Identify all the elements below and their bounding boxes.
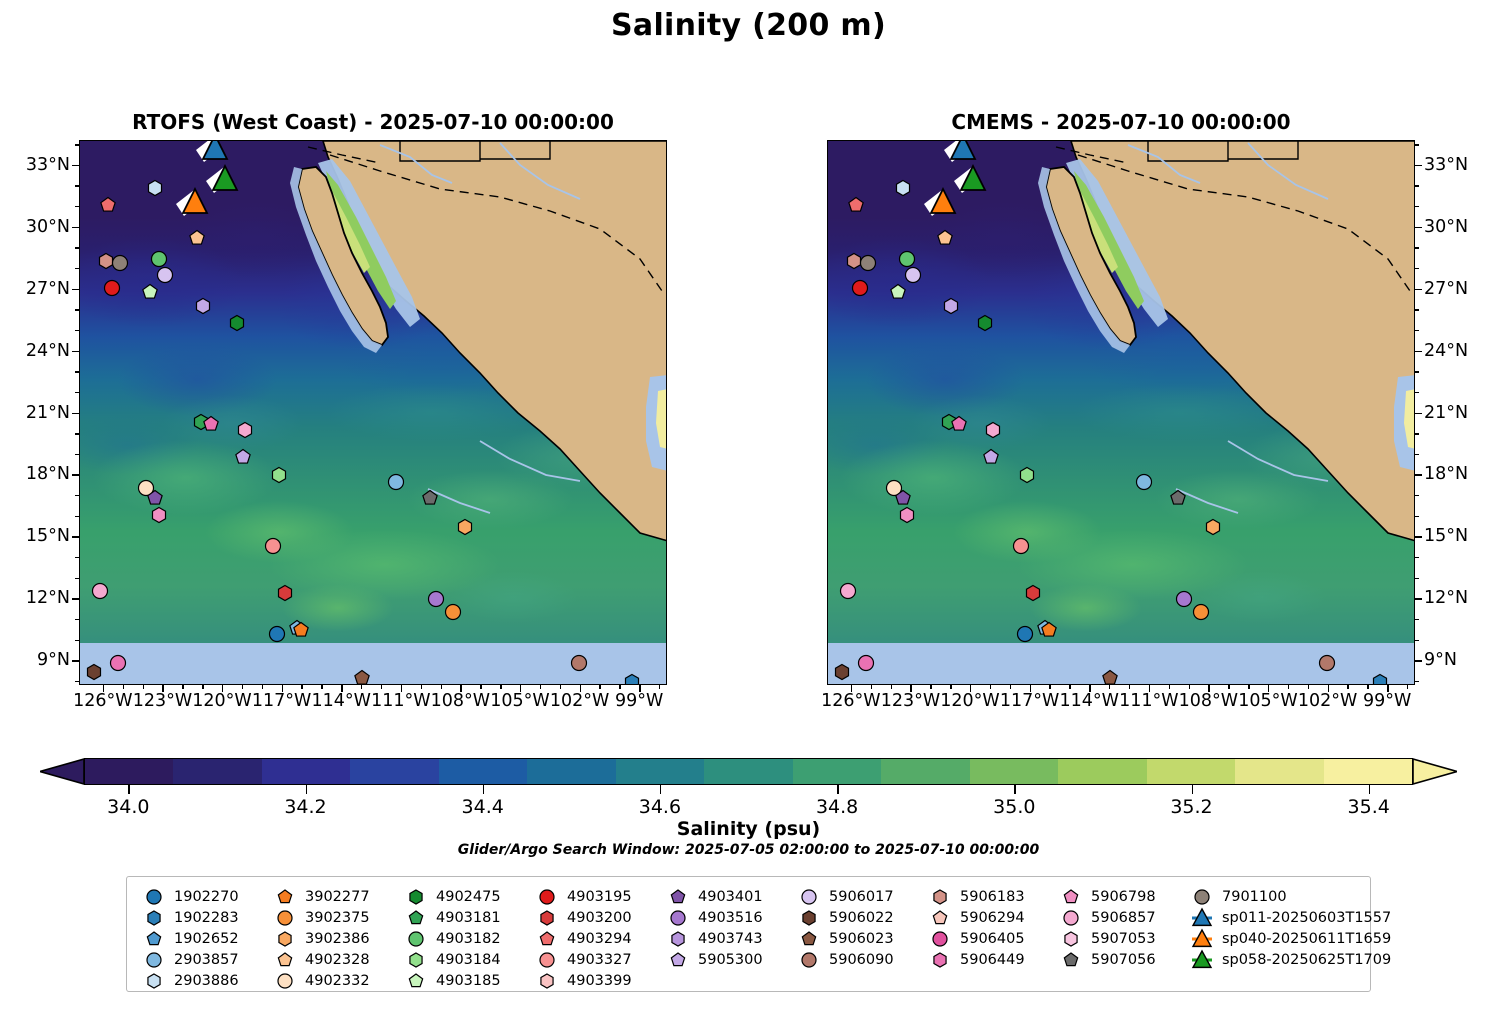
x-tick-label: 111°W	[371, 691, 430, 711]
land-mask-cmems	[828, 141, 1414, 684]
legend-item[interactable]: 7901100	[1187, 886, 1377, 907]
legend-item[interactable]: 5906798	[1056, 886, 1187, 907]
colorbar-segment	[970, 759, 1058, 784]
legend-item[interactable]: 5906183	[925, 886, 1056, 907]
x-tick-minor	[1288, 685, 1289, 689]
y-tick-minor	[75, 578, 79, 579]
y-tick-label: 21°N	[1424, 403, 1468, 423]
legend-label: 5906405	[955, 931, 1025, 947]
y-tick	[1415, 289, 1422, 290]
argo-float-marker[interactable]	[1168, 489, 1187, 508]
argo-float-marker[interactable]	[888, 282, 907, 301]
legend-label: 5906017	[824, 889, 894, 905]
legend-label: 1902270	[169, 889, 239, 905]
argo-float-marker[interactable]	[1174, 590, 1193, 609]
argo-float-marker[interactable]	[444, 602, 463, 621]
legend-item[interactable]: 5906449	[925, 949, 1056, 970]
legend-item[interactable]: 4903399	[532, 970, 663, 991]
argo-float-marker[interactable]	[110, 253, 129, 272]
legend-item[interactable]: 5906090	[794, 949, 925, 970]
y-tick-minor	[1415, 557, 1419, 558]
legend-label: 4903401	[693, 889, 763, 905]
legend-item[interactable]: 4903327	[532, 949, 663, 970]
legend-label: sp011-20250603T1557	[1217, 910, 1391, 926]
y-tick-minor	[75, 206, 79, 207]
legend-item[interactable]: 5906023	[794, 928, 925, 949]
float-legend-icon	[270, 930, 300, 948]
legend-label: 7901100	[1217, 889, 1287, 905]
y-tick	[72, 474, 79, 475]
argo-float-marker[interactable]	[150, 505, 169, 524]
argo-float-marker[interactable]	[98, 195, 117, 214]
colorbar-segment	[881, 759, 969, 784]
x-tick-minor	[1367, 685, 1368, 689]
colorbar-tick	[837, 785, 839, 794]
legend-column: 4903401490351649037435905300	[663, 886, 794, 991]
argo-float-marker[interactable]	[850, 278, 869, 297]
y-tick-label: 15°N	[26, 526, 70, 546]
y-tick-minor	[1415, 433, 1419, 434]
argo-float-marker[interactable]	[623, 672, 642, 685]
panel-rtofs-title: RTOFS (West Coast) - 2025-07-10 00:00:00	[79, 110, 667, 134]
float-legend-icon	[1056, 888, 1086, 906]
y-tick	[1415, 227, 1422, 228]
legend-item[interactable]: 4903195	[532, 886, 663, 907]
float-legend-icon	[270, 951, 300, 969]
colorbar-tick-label: 35.2	[1170, 796, 1212, 818]
legend-item-empty	[925, 970, 1056, 991]
figure-title: Salinity (200 m)	[0, 8, 1497, 43]
float-legend-icon	[270, 888, 300, 906]
legend-label: 1902652	[169, 931, 239, 947]
argo-float-marker[interactable]	[90, 582, 109, 601]
float-legend-icon	[139, 972, 169, 990]
argo-float-marker[interactable]	[1023, 584, 1042, 603]
argo-float-marker[interactable]	[856, 654, 875, 673]
x-tick-minor	[1407, 685, 1408, 689]
float-legend-icon	[401, 888, 431, 906]
legend-item[interactable]: 5906405	[925, 928, 1056, 949]
x-tick-minor	[321, 685, 322, 689]
argo-float-marker[interactable]	[1101, 668, 1120, 685]
legend-item[interactable]: 4903182	[401, 928, 532, 949]
colorbar-tick-label: 34.6	[639, 796, 681, 818]
argo-float-marker[interactable]	[146, 179, 165, 198]
x-tick-minor	[619, 685, 620, 689]
argo-float-marker[interactable]	[846, 195, 865, 214]
y-tick	[72, 289, 79, 290]
legend-item[interactable]: 5907053	[1056, 928, 1187, 949]
argo-float-marker[interactable]	[233, 447, 252, 466]
argo-float-marker[interactable]	[227, 313, 246, 332]
legend-column: 7901100sp011-20250603T1557sp040-20250611…	[1187, 886, 1377, 991]
legend-column: 19022701902283190265229038572903886	[139, 886, 270, 991]
float-legend-icon	[663, 888, 693, 906]
x-tick-minor	[123, 685, 124, 689]
legend-item[interactable]: 2903857	[139, 949, 270, 970]
float-legend-icon	[663, 951, 693, 969]
land-mask-rtofs	[80, 141, 666, 684]
legend-column: 49031954903200490329449033274903399	[532, 886, 663, 991]
y-tick-label: 21°N	[26, 403, 70, 423]
float-legend-icon	[663, 909, 693, 927]
legend-label: 4902332	[300, 973, 370, 989]
legend-item[interactable]: 5906022	[794, 907, 925, 928]
argo-float-marker[interactable]	[858, 253, 877, 272]
x-tick-minor	[1049, 685, 1050, 689]
y-tick-label: 9°N	[1424, 650, 1457, 670]
legend-label: sp058-20250625T1709	[1217, 952, 1391, 968]
float-legend-icon	[270, 909, 300, 927]
y-tick-label: 18°N	[1424, 464, 1468, 484]
y-tick-label: 33°N	[26, 155, 70, 175]
argo-float-marker[interactable]	[832, 662, 851, 681]
legend-label: 3902277	[300, 889, 370, 905]
float-legend-icon	[663, 930, 693, 948]
x-tick-minor	[242, 685, 243, 689]
x-tick-minor	[950, 685, 951, 689]
argo-float-marker[interactable]	[898, 505, 917, 524]
legend-item[interactable]: 2903886	[139, 970, 270, 991]
argo-float-marker[interactable]	[108, 654, 127, 673]
legend-item[interactable]: sp011-20250603T1557	[1187, 907, 1377, 928]
colorbar-segment	[1324, 759, 1412, 784]
legend-label: 3902375	[300, 910, 370, 926]
argo-float-marker[interactable]	[263, 536, 282, 555]
float-legend-icon	[532, 951, 562, 969]
argo-float-marker[interactable]	[936, 229, 955, 248]
legend-item[interactable]: 5905300	[663, 949, 794, 970]
argo-float-marker[interactable]	[981, 447, 1000, 466]
argo-float-marker[interactable]	[1015, 625, 1034, 644]
y-tick-minor	[75, 640, 79, 641]
panel-rtofs: RTOFS (West Coast) - 2025-07-10 00:00:00…	[79, 140, 667, 685]
legend-label: 4903181	[431, 910, 501, 926]
float-legend-icon	[794, 951, 824, 969]
argo-float-marker[interactable]	[1017, 466, 1036, 485]
float-legend-icon	[794, 909, 824, 927]
legend-item[interactable]: 1902270	[139, 886, 270, 907]
x-tick-label: 126°W	[73, 691, 132, 711]
argo-float-marker[interactable]	[353, 668, 372, 685]
argo-float-marker[interactable]	[569, 654, 588, 673]
x-tick-minor	[659, 685, 660, 689]
legend-item[interactable]: 5906857	[1056, 907, 1187, 928]
colorbar-segment	[704, 759, 792, 784]
argo-float-marker[interactable]	[202, 414, 221, 433]
argo-float-marker[interactable]	[894, 179, 913, 198]
legend-item[interactable]: 4902328	[270, 949, 401, 970]
x-tick-minor	[421, 685, 422, 689]
argo-float-marker[interactable]	[1134, 472, 1153, 491]
float-legend-icon	[401, 930, 431, 948]
y-tick-minor	[75, 268, 79, 269]
colorbar-tick-label: 35.4	[1348, 796, 1390, 818]
legend-item[interactable]: sp058-20250625T1709	[1187, 949, 1377, 970]
float-legend-icon	[925, 930, 955, 948]
argo-float-marker[interactable]	[942, 297, 961, 316]
argo-float-marker[interactable]	[386, 472, 405, 491]
legend-column: 5906183590629459064055906449	[925, 886, 1056, 991]
x-tick-label: 105°W	[490, 691, 549, 711]
argo-float-marker[interactable]	[102, 278, 121, 297]
colorbar-segment	[85, 759, 173, 784]
legend-item-empty	[1056, 970, 1187, 991]
x-tick-minor	[599, 685, 600, 689]
y-tick-minor	[75, 681, 79, 682]
legend-label: 4902328	[300, 952, 370, 968]
legend-label: 4903184	[431, 952, 501, 968]
colorbar-tick	[1369, 785, 1371, 794]
float-legend-icon	[139, 951, 169, 969]
y-tick-minor	[1415, 309, 1419, 310]
argo-float-marker[interactable]	[275, 584, 294, 603]
x-tick-minor	[441, 685, 442, 689]
legend-label: 5906090	[824, 952, 894, 968]
glider-track-marker[interactable]	[950, 159, 996, 199]
y-tick-label: 24°N	[26, 341, 70, 361]
legend-item[interactable]: 5906294	[925, 907, 1056, 928]
float-legend-icon	[925, 951, 955, 969]
argo-float-marker[interactable]	[420, 489, 439, 508]
float-legend-icon	[794, 888, 824, 906]
legend-item[interactable]: sp040-20250611T1659	[1187, 928, 1377, 949]
argo-float-marker[interactable]	[983, 421, 1002, 440]
y-tick	[1415, 536, 1422, 537]
x-tick-minor	[361, 685, 362, 689]
legend-item[interactable]: 4902332	[270, 970, 401, 991]
float-legend-icon	[532, 930, 562, 948]
x-tick-minor	[1189, 685, 1190, 689]
y-tick-label: 24°N	[1424, 341, 1468, 361]
legend-item[interactable]: 4903401	[663, 886, 794, 907]
colorbar-segment	[439, 759, 527, 784]
y-tick-label: 12°N	[1424, 588, 1468, 608]
argo-float-marker[interactable]	[1317, 654, 1336, 673]
x-tick-minor	[500, 685, 501, 689]
x-tick-minor	[560, 685, 561, 689]
colorbar-segment	[1235, 759, 1323, 784]
legend-label: 5906183	[955, 889, 1025, 905]
argo-float-marker[interactable]	[267, 625, 286, 644]
x-tick-minor	[1347, 685, 1348, 689]
y-tick-minor	[1415, 330, 1419, 331]
axis-x-cmems: 126°W123°W120°W117°W114°W111°W108°W105°W…	[827, 685, 1415, 719]
float-legend-icon	[532, 972, 562, 990]
colorbar-tick	[660, 785, 662, 794]
float-legend-icon	[401, 972, 431, 990]
y-tick-minor	[1415, 371, 1419, 372]
float-legend-icon	[532, 909, 562, 927]
legend-item[interactable]: 4903185	[401, 970, 532, 991]
colorbar-segment	[527, 759, 615, 784]
x-tick-minor	[301, 685, 302, 689]
y-tick-minor	[1415, 268, 1419, 269]
x-tick-label: 102°W	[550, 691, 609, 711]
colorbar-segment	[262, 759, 350, 784]
y-tick-minor	[1415, 206, 1419, 207]
legend-item[interactable]: 4903181	[401, 907, 532, 928]
colorbar-tick	[128, 785, 130, 794]
y-tick-minor	[1415, 578, 1419, 579]
axis-x-rtofs: 126°W123°W120°W117°W114°W111°W108°W105°W…	[79, 685, 667, 719]
y-tick	[1415, 351, 1422, 352]
legend-item[interactable]: 4903516	[663, 907, 794, 928]
argo-float-marker[interactable]	[194, 297, 213, 316]
colorbar-tick-label: 34.8	[816, 796, 858, 818]
y-tick-minor	[1415, 640, 1419, 641]
float-legend-icon	[401, 909, 431, 927]
colorbar-tick-label: 35.0	[993, 796, 1035, 818]
y-tick-minor	[1415, 516, 1419, 517]
colorbar-segment	[173, 759, 261, 784]
x-tick-minor	[1248, 685, 1249, 689]
y-tick	[72, 165, 79, 166]
argo-float-marker[interactable]	[456, 518, 475, 537]
argo-float-marker[interactable]	[84, 662, 103, 681]
legend-column: 5906017590602259060235906090	[794, 886, 925, 991]
colorbar-segment	[1147, 759, 1235, 784]
x-tick-label: 108°W	[1179, 691, 1238, 711]
legend-item[interactable]: 3902375	[270, 907, 401, 928]
y-tick	[72, 536, 79, 537]
y-tick-label: 9°N	[37, 650, 70, 670]
y-tick-minor	[75, 557, 79, 558]
argo-float-marker[interactable]	[426, 590, 445, 609]
y-tick	[72, 413, 79, 414]
y-tick-minor	[75, 495, 79, 496]
y-tick	[1415, 413, 1422, 414]
x-tick-minor	[1109, 685, 1110, 689]
argo-float-marker[interactable]	[1192, 602, 1211, 621]
argo-float-marker[interactable]	[838, 582, 857, 601]
y-tick-minor	[1415, 681, 1419, 682]
y-tick	[1415, 660, 1422, 661]
argo-float-marker[interactable]	[291, 621, 310, 640]
colorbar-segment	[793, 759, 881, 784]
legend-item[interactable]: 4903294	[532, 928, 663, 949]
y-tick-minor	[75, 185, 79, 186]
x-tick-minor	[480, 685, 481, 689]
legend-item[interactable]: 4903200	[532, 907, 663, 928]
legend-label: 3902386	[300, 931, 370, 947]
float-legend-icon	[1187, 888, 1217, 906]
x-tick-minor	[381, 685, 382, 689]
glider-legend-icon	[1187, 928, 1217, 950]
panel-cmems: CMEMS - 2025-07-10 00:00:00 126°W123°W12…	[827, 140, 1415, 685]
y-tick-minor	[1415, 185, 1419, 186]
x-tick-minor	[1228, 685, 1229, 689]
legend-label: 2903886	[169, 973, 239, 989]
legend-item-empty	[1187, 970, 1377, 991]
legend-item[interactable]: 4902475	[401, 886, 532, 907]
y-tick-label: 27°N	[1424, 279, 1468, 299]
map-rtofs[interactable]	[79, 140, 667, 685]
legend-item[interactable]: 4903743	[663, 928, 794, 949]
y-tick	[72, 598, 79, 599]
legend-item[interactable]: 4903184	[401, 949, 532, 970]
x-tick-label: 99°W	[1363, 691, 1411, 711]
x-tick-minor	[143, 685, 144, 689]
x-tick-minor	[1129, 685, 1130, 689]
argo-float-marker[interactable]	[950, 414, 969, 433]
y-tick-label: 12°N	[26, 588, 70, 608]
y-tick	[72, 660, 79, 661]
float-legend-icon	[1056, 951, 1086, 969]
colorbar-tick	[1192, 785, 1194, 794]
legend-item[interactable]: 5906017	[794, 886, 925, 907]
argo-float-marker[interactable]	[975, 313, 994, 332]
argo-float-marker[interactable]	[1371, 672, 1390, 685]
x-tick-minor	[1169, 685, 1170, 689]
x-tick-label: 120°W	[940, 691, 999, 711]
axis-y-right-cmems: 33°N30°N27°N24°N21°N18°N15°N12°N9°N	[1415, 140, 1497, 685]
y-tick-minor	[75, 392, 79, 393]
argo-float-marker[interactable]	[1011, 536, 1030, 555]
argo-float-marker[interactable]	[188, 229, 207, 248]
glider-track-marker[interactable]	[202, 159, 248, 199]
y-tick-label: 30°N	[1424, 217, 1468, 237]
y-tick-minor	[75, 247, 79, 248]
x-tick-minor	[990, 685, 991, 689]
legend-item[interactable]: 1902283	[139, 907, 270, 928]
argo-float-marker[interactable]	[1204, 518, 1223, 537]
x-tick-minor	[930, 685, 931, 689]
y-tick-minor	[75, 309, 79, 310]
legend-label: 4903327	[562, 952, 632, 968]
y-tick-label: 15°N	[1424, 526, 1468, 546]
float-legend-icon	[401, 951, 431, 969]
float-legend-icon	[139, 909, 169, 927]
panel-cmems-title: CMEMS - 2025-07-10 00:00:00	[827, 110, 1415, 134]
float-legend-icon	[1056, 909, 1086, 927]
colorbar-tick	[1014, 785, 1016, 794]
float-legend[interactable]: 1902270190228319026522903857290388639022…	[126, 876, 1371, 992]
argo-float-marker[interactable]	[140, 282, 159, 301]
float-legend-icon	[925, 909, 955, 927]
colorbar-gradient	[84, 758, 1413, 785]
legend-item[interactable]: 1902652	[139, 928, 270, 949]
x-tick-minor	[182, 685, 183, 689]
x-tick-minor	[262, 685, 263, 689]
x-tick-label: 108°W	[431, 691, 490, 711]
legend-label: 1902283	[169, 910, 239, 926]
legend-label: 5906023	[824, 931, 894, 947]
x-tick-label: 117°W	[1000, 691, 1059, 711]
glider-legend-icon	[1187, 949, 1217, 971]
x-tick-minor	[540, 685, 541, 689]
float-legend-icon	[532, 888, 562, 906]
map-cmems[interactable]	[827, 140, 1415, 685]
y-tick-minor	[75, 371, 79, 372]
argo-float-marker[interactable]	[269, 466, 288, 485]
y-tick	[1415, 165, 1422, 166]
x-tick-minor	[1069, 685, 1070, 689]
float-legend-icon	[139, 888, 169, 906]
argo-float-marker[interactable]	[235, 421, 254, 440]
legend-label: 5906798	[1086, 889, 1156, 905]
x-tick-label: 102°W	[1298, 691, 1357, 711]
colorbar-segment	[1058, 759, 1146, 784]
legend-item[interactable]: 3902277	[270, 886, 401, 907]
x-tick-label: 123°W	[881, 691, 940, 711]
legend-item[interactable]: 3902386	[270, 928, 401, 949]
y-tick-label: 30°N	[26, 217, 70, 237]
colorbar-title: Salinity (psu)	[40, 818, 1457, 840]
legend-item[interactable]: 5907056	[1056, 949, 1187, 970]
argo-float-marker[interactable]	[1039, 621, 1058, 640]
y-tick-minor	[1415, 454, 1419, 455]
